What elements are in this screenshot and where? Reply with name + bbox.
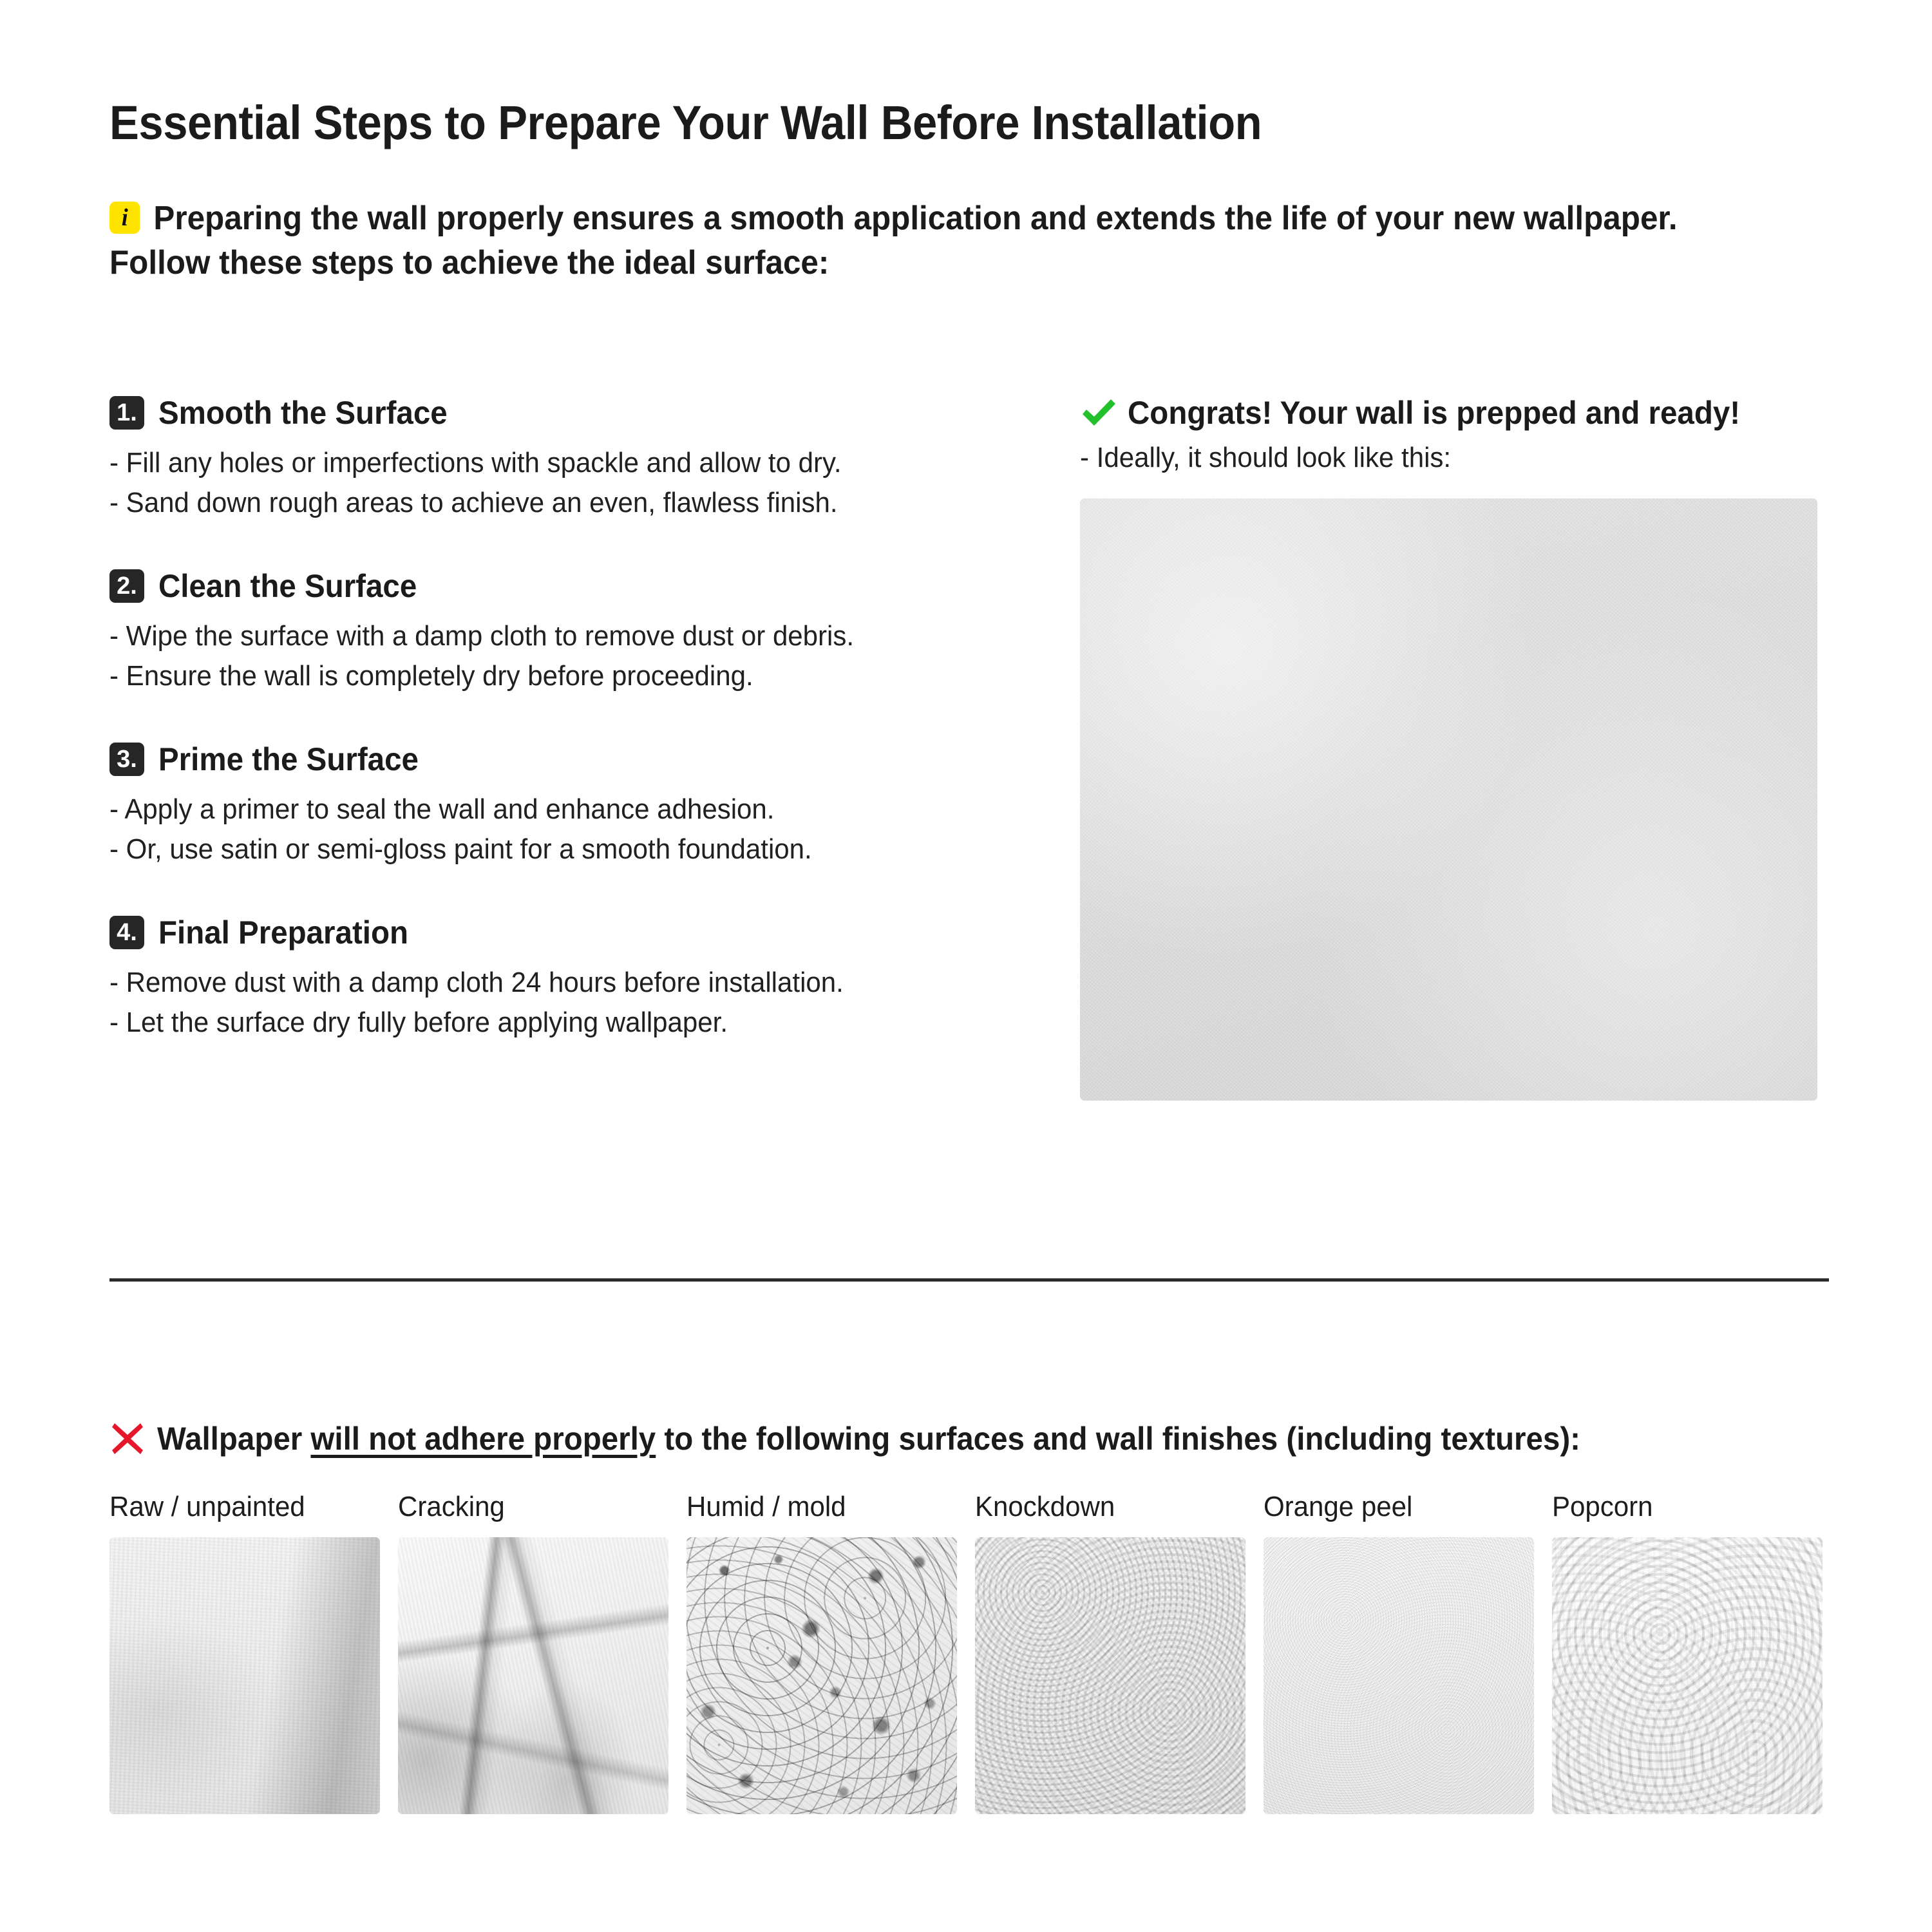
step-item-4: 4. Final Preparation - Remove dust with …: [109, 914, 1011, 1043]
step-bullet: - Fill any holes or imperfections with s…: [109, 443, 971, 483]
texture-item-popcorn: Popcorn: [1552, 1491, 1823, 1814]
cracking-texture-image: [398, 1537, 668, 1814]
texture-label: Orange peel: [1264, 1491, 1522, 1523]
step-bullet: - Sand down rough areas to achieve an ev…: [109, 483, 971, 523]
section-divider: [109, 1278, 1829, 1282]
ideal-wall-preview-image: [1080, 498, 1817, 1101]
texture-item-raw-unpainted: Raw / unpainted: [109, 1491, 380, 1814]
step-bullet: - Let the surface dry fully before apply…: [109, 1003, 971, 1043]
texture-item-orange-peel: Orange peel: [1264, 1491, 1534, 1814]
congrats-subtitle: - Ideally, it should look like this:: [1080, 442, 1787, 474]
warning-suffix: to the following surfaces and wall finis…: [656, 1421, 1580, 1457]
step-bullet: - Apply a primer to seal the wall and en…: [109, 790, 971, 829]
warning-header: Wallpaper will not adhere properly to th…: [109, 1420, 1655, 1457]
step-body: - Remove dust with a damp cloth 24 hours…: [109, 963, 971, 1043]
steps-list: 1. Smooth the Surface - Fill any holes o…: [109, 394, 1011, 1043]
texture-label: Raw / unpainted: [109, 1491, 368, 1523]
texture-label: Popcorn: [1552, 1491, 1810, 1523]
step-header: 2. Clean the Surface: [109, 567, 1011, 605]
step-header: 1. Smooth the Surface: [109, 394, 1011, 431]
congrats-title: Congrats! Your wall is prepped and ready…: [1128, 394, 1740, 431]
texture-label: Knockdown: [975, 1491, 1233, 1523]
info-icon: i: [109, 202, 140, 234]
step-bullet: - Ensure the wall is completely dry befo…: [109, 656, 971, 696]
bad-surfaces-row: Raw / unpainted Cracking Humid / mold Kn…: [109, 1491, 1835, 1814]
intro-line-2: Follow these steps to achieve the ideal …: [109, 244, 829, 281]
wall-prep-infographic: Essential Steps to Prepare Your Wall Bef…: [0, 0, 1932, 1932]
texture-item-cracking: Cracking: [398, 1491, 668, 1814]
intro-line-1: Preparing the wall properly ensures a sm…: [153, 200, 1677, 237]
step-number-badge: 1.: [109, 396, 144, 430]
congrats-header: Congrats! Your wall is prepped and ready…: [1080, 394, 1821, 431]
texture-item-humid-mold: Humid / mold: [687, 1491, 957, 1814]
step-item-1: 1. Smooth the Surface - Fill any holes o…: [109, 394, 1011, 524]
popcorn-texture-image: [1552, 1537, 1823, 1814]
step-title: Clean the Surface: [158, 567, 417, 605]
step-body: - Wipe the surface with a damp cloth to …: [109, 616, 971, 697]
page-title: Essential Steps to Prepare Your Wall Bef…: [109, 95, 1262, 150]
info-icon-glyph: i: [109, 205, 140, 230]
humid-mold-texture-image: [687, 1537, 957, 1814]
intro-paragraph: iPreparing the wall properly ensures a s…: [109, 196, 1749, 285]
texture-label: Cracking: [398, 1491, 656, 1523]
x-icon: [109, 1421, 146, 1457]
step-number-badge: 3.: [109, 743, 144, 776]
step-header: 4. Final Preparation: [109, 914, 1011, 951]
texture-item-knockdown: Knockdown: [975, 1491, 1245, 1814]
warning-prefix: Wallpaper: [157, 1421, 310, 1457]
knockdown-texture-image: [975, 1537, 1245, 1814]
step-body: - Apply a primer to seal the wall and en…: [109, 790, 971, 870]
step-title: Smooth the Surface: [158, 394, 448, 431]
step-item-3: 3. Prime the Surface - Apply a primer to…: [109, 741, 1011, 870]
step-title: Prime the Surface: [158, 741, 419, 778]
texture-label: Humid / mold: [687, 1491, 945, 1523]
step-bullet: - Wipe the surface with a damp cloth to …: [109, 616, 971, 656]
step-body: - Fill any holes or imperfections with s…: [109, 443, 971, 524]
step-header: 3. Prime the Surface: [109, 741, 1011, 778]
orange-peel-texture-image: [1264, 1537, 1534, 1814]
raw-unpainted-texture-image: [109, 1537, 380, 1814]
step-number-badge: 4.: [109, 916, 144, 949]
step-item-2: 2. Clean the Surface - Wipe the surface …: [109, 567, 1011, 697]
check-icon: [1080, 397, 1117, 429]
step-bullet: - Or, use satin or semi-gloss paint for …: [109, 829, 971, 869]
congrats-panel: Congrats! Your wall is prepped and ready…: [1080, 394, 1821, 1101]
step-bullet: - Remove dust with a damp cloth 24 hours…: [109, 963, 971, 1003]
step-title: Final Preparation: [158, 914, 408, 951]
step-number-badge: 2.: [109, 569, 144, 603]
warning-emphasis: will not adhere properly: [310, 1421, 656, 1457]
warning-text: Wallpaper will not adhere properly to th…: [157, 1420, 1580, 1457]
